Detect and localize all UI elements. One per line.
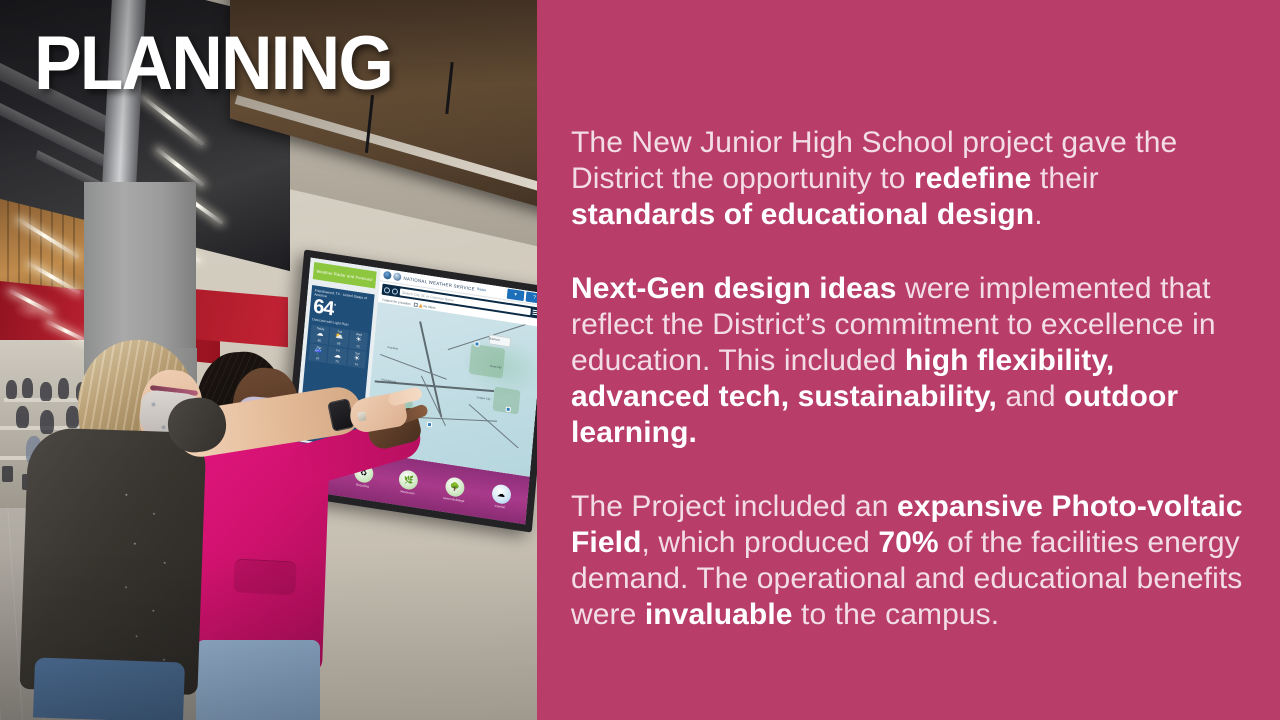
map-label: Pearland (387, 346, 398, 351)
forecast-cell: Fri ☁ 70 (328, 346, 348, 366)
temperature-value: 64 (312, 295, 334, 320)
body-text: to the campus. (793, 598, 1000, 631)
forecast-grid: Today ☁ 65 Tue ⛅ 69 (308, 324, 368, 369)
emphasis-text: 70% (878, 526, 938, 559)
emphasis-text: Next-Gen design ideas (571, 272, 897, 305)
slide: Weather Radar and Forecast Friendswood, … (0, 0, 1280, 720)
chevron-down-icon[interactable]: ▾ (507, 289, 525, 302)
teacher-top-pattern (94, 467, 215, 692)
nws-seal-icon (393, 272, 402, 281)
alert-triangle-icon (418, 303, 422, 308)
forecast-cell: Wed ☀ 72 (349, 330, 369, 350)
photo-panel: Weather Radar and Forecast Friendswood, … (0, 0, 537, 720)
map-pin-icon[interactable] (475, 341, 480, 347)
map-pin-icon[interactable] (427, 422, 432, 428)
emphasis-text: standards of educational design (571, 198, 1034, 231)
sidebar-header: Weather Radar and Forecast (313, 262, 377, 289)
tree-icon[interactable]: 🌳 (445, 476, 466, 498)
body-text: . (1034, 198, 1042, 231)
nws-sub-label: Radar (477, 287, 487, 292)
paragraph-3: The Project included an expansive Photo-… (571, 489, 1247, 633)
content-panel: The New Junior High School project gave … (537, 0, 1280, 720)
map-label: League City (477, 396, 491, 401)
teacher-jeans (33, 657, 185, 720)
nav-item-comfort[interactable]: ☁ Comfort (490, 483, 511, 510)
nav-item-green-buildings[interactable]: 🌳 Green Buildings (443, 476, 466, 503)
degree-symbol: ° (333, 304, 335, 310)
body-text: their (1031, 162, 1098, 195)
student-jeans (196, 640, 320, 720)
forecast-cell: Sat ☀ 74 (347, 349, 367, 369)
forecast-cell: Today ☁ 65 (310, 324, 330, 344)
map-pin-icon[interactable] (506, 406, 511, 412)
forecast-cell: Thu ☔ 67 (308, 343, 328, 363)
emphasis-text: invaluable (645, 598, 793, 631)
nav-label: Recycling (356, 483, 369, 489)
checkbox-icon[interactable] (413, 303, 417, 308)
nav-label: Green Buildings (443, 496, 465, 503)
body-text: The Project included an (571, 490, 897, 523)
cloud-icon[interactable]: ☁ (491, 483, 512, 505)
teacher-ring (357, 411, 366, 421)
location-icon[interactable] (384, 286, 390, 293)
paragraph-1: The New Junior High School project gave … (571, 125, 1247, 233)
sidebar-header-label: Weather Radar and Forecast (316, 268, 373, 282)
body-text: and (997, 380, 1064, 413)
paragraph-2: Next-Gen design ideas were implemented t… (571, 271, 1247, 451)
nav-label: Resources (400, 489, 415, 495)
search-icon[interactable] (392, 288, 398, 295)
noaa-seal-icon (383, 271, 392, 280)
header-buttons[interactable]: ▾ ? (507, 289, 537, 304)
body-text: , which produced (642, 526, 879, 559)
leaf-icon[interactable]: 🌿 (398, 469, 419, 491)
interior-scene: Weather Radar and Forecast Friendswood, … (0, 0, 537, 720)
forecast-cell: Tue ⛅ 69 (329, 327, 349, 347)
body-copy: The New Junior High School project gave … (571, 125, 1247, 633)
page-title: PLANNING (34, 26, 392, 102)
help-icon[interactable]: ? (526, 291, 537, 304)
hoodie-pocket (233, 558, 297, 595)
nav-item-resources[interactable]: 🌿 Resources (398, 469, 419, 496)
emphasis-text: redefine (914, 162, 1032, 195)
nav-label: Comfort (495, 504, 506, 510)
